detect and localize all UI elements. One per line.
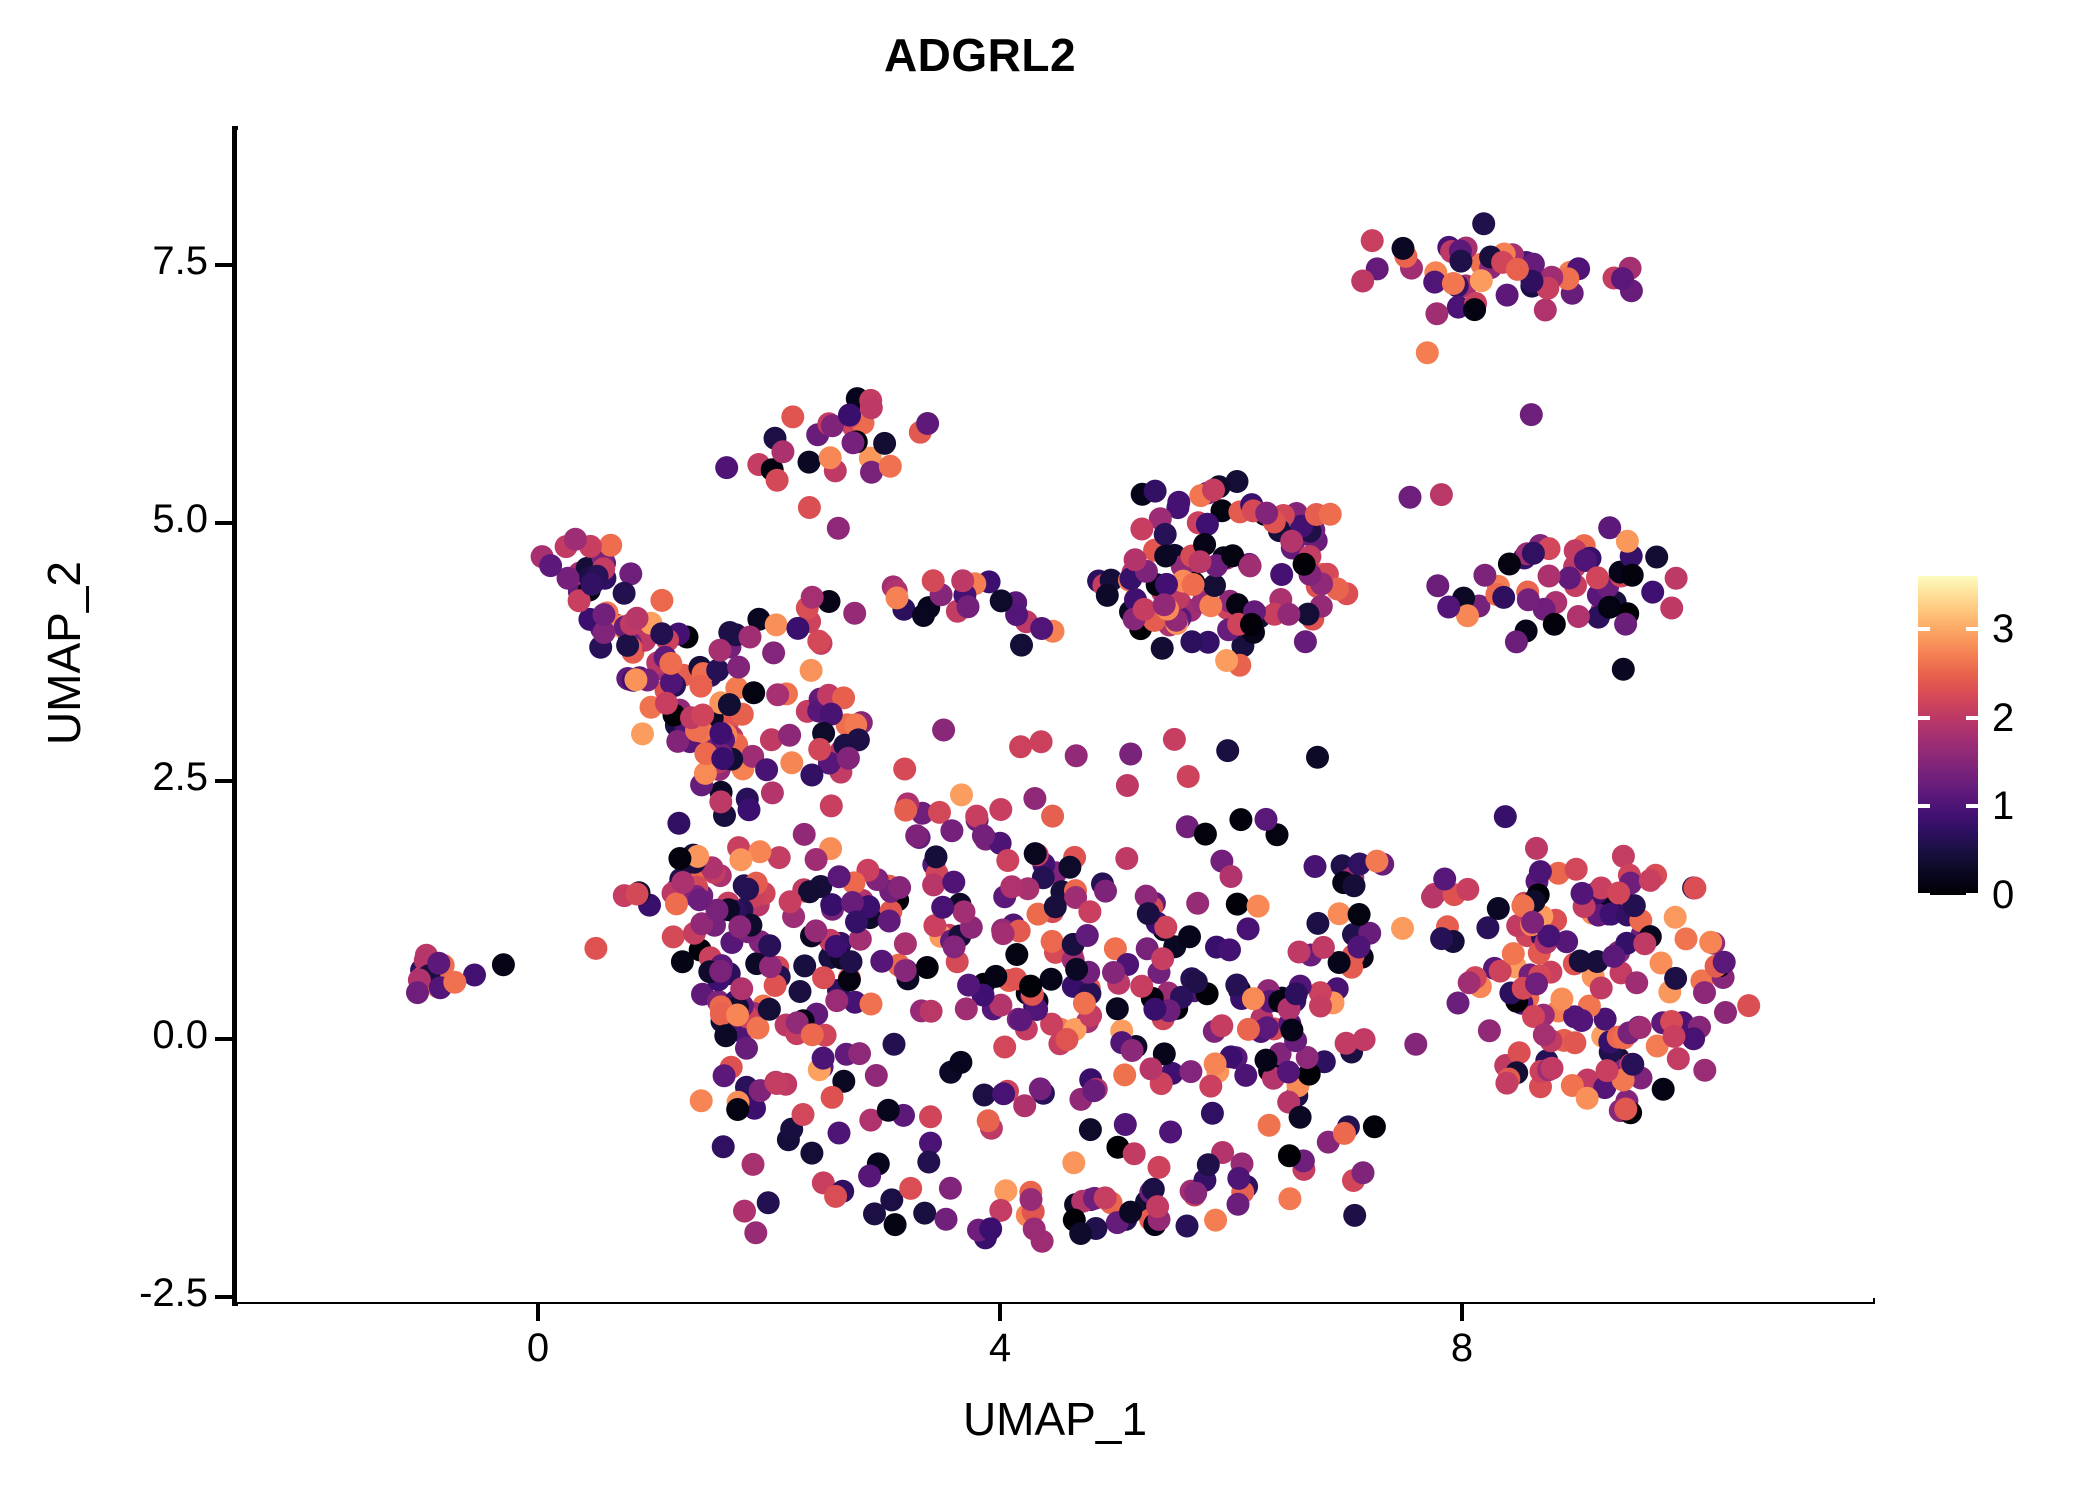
scatter-point bbox=[893, 758, 916, 781]
scatter-point bbox=[1280, 530, 1303, 553]
x-tick-label: 0 bbox=[478, 1326, 598, 1371]
scatter-point bbox=[706, 659, 729, 682]
scatter-point bbox=[805, 848, 828, 871]
scatter-point bbox=[1115, 847, 1138, 870]
scatter-point bbox=[1073, 992, 1096, 1015]
scatter-point bbox=[873, 432, 896, 455]
scatter-point bbox=[800, 1142, 823, 1165]
scatter-point bbox=[1009, 1008, 1032, 1031]
scatter-point bbox=[1210, 1014, 1233, 1037]
scatter-point bbox=[738, 798, 761, 821]
scatter-point bbox=[837, 747, 860, 770]
scatter-point bbox=[1289, 1106, 1312, 1129]
scatter-point bbox=[1335, 1032, 1358, 1055]
scatter-point bbox=[766, 469, 789, 492]
scatter-point bbox=[1076, 924, 1099, 947]
scatter-point bbox=[883, 1033, 906, 1056]
scatter-point bbox=[714, 1024, 737, 1047]
scatter-point bbox=[1425, 302, 1448, 325]
scatter-point bbox=[1024, 842, 1047, 865]
scatter-point bbox=[922, 873, 945, 896]
scatter-point bbox=[584, 937, 607, 960]
scatter-point bbox=[913, 1202, 936, 1225]
scatter-point bbox=[744, 1221, 767, 1244]
scatter-point bbox=[1220, 865, 1243, 888]
scatter-point bbox=[1645, 546, 1668, 569]
scatter-point bbox=[742, 1153, 765, 1176]
scatter-point bbox=[1065, 744, 1088, 767]
scatter-point bbox=[662, 925, 685, 948]
scatter-point bbox=[712, 1135, 735, 1158]
colorbar-tick-mark bbox=[1918, 804, 1930, 808]
scatter-point bbox=[912, 604, 935, 627]
scatter-point bbox=[1143, 998, 1166, 1021]
scatter-point bbox=[1525, 837, 1548, 860]
scatter-point bbox=[840, 950, 863, 973]
scatter-point bbox=[972, 824, 995, 847]
scatter-point bbox=[865, 1064, 888, 1087]
scatter-point bbox=[1013, 1094, 1036, 1117]
scatter-point bbox=[798, 451, 821, 474]
colorbar-tick-mark bbox=[1918, 716, 1930, 720]
scatter-point bbox=[878, 910, 901, 933]
scatter-point bbox=[1586, 566, 1609, 589]
scatter-point bbox=[1030, 730, 1053, 753]
scatter-point bbox=[726, 1098, 749, 1121]
scatter-point bbox=[709, 960, 732, 983]
scatter-point bbox=[626, 883, 649, 906]
scatter-point bbox=[870, 950, 893, 973]
scatter-point bbox=[1154, 545, 1177, 568]
scatter-point bbox=[1641, 581, 1664, 604]
scatter-point bbox=[1667, 1047, 1690, 1070]
scatter-point bbox=[1506, 258, 1529, 281]
scatter-point bbox=[1201, 1102, 1224, 1125]
scatter-point bbox=[838, 404, 861, 427]
scatter-point bbox=[1534, 299, 1557, 322]
scatter-point bbox=[804, 919, 827, 942]
scatter-point bbox=[709, 790, 732, 813]
scatter-point bbox=[1116, 774, 1139, 797]
scatter-point bbox=[1487, 897, 1510, 920]
scatter-point bbox=[671, 871, 694, 894]
scatter-point bbox=[1096, 584, 1119, 607]
scatter-point bbox=[789, 980, 812, 1003]
scatter-point bbox=[1185, 970, 1208, 993]
scatter-point bbox=[922, 569, 945, 592]
scatter-point bbox=[1180, 630, 1203, 653]
scatter-point bbox=[1197, 1153, 1220, 1176]
scatter-point bbox=[942, 871, 965, 894]
scatter-point bbox=[920, 1000, 943, 1023]
scatter-point bbox=[950, 783, 973, 806]
scatter-point bbox=[1029, 1077, 1052, 1100]
scatter-point bbox=[943, 935, 966, 958]
scatter-point bbox=[1607, 882, 1630, 905]
scatter-point bbox=[879, 455, 902, 478]
scatter-point bbox=[931, 896, 954, 919]
scatter-point bbox=[992, 1082, 1015, 1105]
scatter-point bbox=[730, 977, 753, 1000]
scatter-point bbox=[1652, 1078, 1675, 1101]
scatter-point bbox=[1277, 603, 1300, 626]
y-tick-label: 2.5 bbox=[0, 755, 208, 800]
scatter-point bbox=[1167, 491, 1190, 514]
scatter-point bbox=[1151, 947, 1174, 970]
scatter-point bbox=[443, 971, 466, 994]
scatter-point bbox=[689, 675, 712, 698]
scatter-point bbox=[1058, 856, 1081, 879]
scatter-point bbox=[688, 888, 711, 911]
scatter-point bbox=[671, 950, 694, 973]
scatter-point bbox=[1010, 634, 1033, 657]
scatter-point bbox=[1319, 503, 1342, 526]
scatter-point bbox=[1664, 967, 1687, 990]
scatter-point bbox=[1176, 1215, 1199, 1238]
scatter-point bbox=[843, 602, 866, 625]
scatter-point bbox=[1343, 1204, 1366, 1227]
scatter-point bbox=[1094, 1186, 1117, 1209]
scatter-point bbox=[1041, 805, 1064, 828]
scatter-point bbox=[765, 1072, 788, 1095]
scatter-point bbox=[1629, 1016, 1652, 1039]
scatter-point bbox=[1234, 1064, 1257, 1087]
scatter-point bbox=[894, 932, 917, 955]
scatter-point bbox=[1598, 596, 1621, 619]
scatter-point bbox=[427, 952, 450, 975]
scatter-point bbox=[616, 634, 639, 657]
scatter-point bbox=[1496, 284, 1519, 307]
scatter-point bbox=[1569, 950, 1592, 973]
scatter-point bbox=[755, 758, 778, 781]
scatter-point bbox=[778, 724, 801, 747]
scatter-point bbox=[758, 934, 781, 957]
scatter-point bbox=[780, 751, 803, 774]
scatter-point bbox=[655, 692, 678, 715]
scatter-point bbox=[1163, 728, 1186, 751]
scatter-point bbox=[1094, 880, 1117, 903]
scatter-point bbox=[1153, 593, 1176, 616]
scatter-point bbox=[1494, 805, 1517, 828]
y-axis-label: UMAP_2 bbox=[37, 393, 91, 913]
scatter-point bbox=[1044, 895, 1067, 918]
scatter-point bbox=[965, 805, 988, 828]
scatter-point bbox=[1404, 1033, 1427, 1056]
scatter-point bbox=[1277, 1061, 1300, 1084]
scatter-point bbox=[728, 915, 751, 938]
scatter-point bbox=[1146, 1195, 1169, 1218]
scatter-point bbox=[1449, 250, 1472, 273]
scatter-point bbox=[1538, 565, 1561, 588]
scatter-point bbox=[1204, 1052, 1227, 1075]
scatter-point bbox=[736, 878, 759, 901]
scatter-point bbox=[1737, 994, 1760, 1017]
scatter-point bbox=[771, 440, 794, 463]
scatter-point bbox=[1665, 567, 1688, 590]
scatter-point bbox=[1078, 900, 1101, 923]
scatter-point bbox=[1133, 598, 1156, 621]
page-title: ADGRL2 bbox=[0, 28, 1960, 82]
scatter-point bbox=[801, 1023, 824, 1046]
scatter-point bbox=[1194, 823, 1217, 846]
plot-panel bbox=[237, 130, 1873, 1302]
scatter-point bbox=[1517, 588, 1540, 611]
scatter-point bbox=[932, 719, 955, 742]
scatter-point bbox=[1137, 902, 1160, 925]
scatter-point bbox=[842, 431, 865, 454]
scatter-point bbox=[863, 1202, 886, 1225]
scatter-point bbox=[1182, 573, 1205, 596]
scatter-point bbox=[1614, 1098, 1637, 1121]
scatter-point bbox=[1114, 1113, 1137, 1136]
scatter-point bbox=[1227, 1193, 1250, 1216]
scatter-point bbox=[1148, 1156, 1171, 1179]
scatter-point bbox=[894, 799, 917, 822]
scatter-point bbox=[877, 1099, 900, 1122]
y-tick-label: 5.0 bbox=[0, 497, 208, 542]
scatter-point bbox=[727, 656, 750, 679]
scatter-point bbox=[492, 953, 515, 976]
scatter-point bbox=[1151, 637, 1174, 660]
colorbar-tick-label: 1 bbox=[1992, 786, 2014, 826]
scatter-point bbox=[1713, 951, 1736, 974]
scatter-point bbox=[1306, 912, 1329, 935]
scatter-point bbox=[1227, 1167, 1250, 1190]
scatter-point bbox=[1255, 1049, 1278, 1072]
scatter-point bbox=[1664, 906, 1687, 929]
scatter-point bbox=[1288, 941, 1311, 964]
scatter-point bbox=[1447, 992, 1470, 1015]
scatter-point bbox=[1247, 895, 1270, 918]
scatter-point bbox=[758, 998, 781, 1021]
scatter-point bbox=[993, 1036, 1016, 1059]
scatter-points-layer bbox=[237, 130, 1873, 1302]
x-axis-label: UMAP_1 bbox=[237, 1392, 1873, 1446]
scatter-point bbox=[709, 639, 732, 662]
scatter-point bbox=[1270, 563, 1293, 586]
scatter-point bbox=[1558, 567, 1581, 590]
scatter-point bbox=[1541, 1057, 1564, 1080]
scatter-point bbox=[1065, 958, 1088, 981]
scatter-point bbox=[1625, 971, 1648, 994]
scatter-point bbox=[1229, 808, 1252, 831]
scatter-point bbox=[713, 1064, 736, 1087]
scatter-point bbox=[1144, 480, 1167, 503]
scatter-point bbox=[858, 1165, 881, 1188]
scatter-point bbox=[820, 794, 843, 817]
scatter-point bbox=[1683, 877, 1706, 900]
scatter-point bbox=[1391, 917, 1414, 940]
x-tick-mark bbox=[998, 1304, 1002, 1321]
y-tick-mark bbox=[215, 521, 232, 525]
scatter-point bbox=[1426, 574, 1449, 597]
scatter-point bbox=[1502, 942, 1525, 965]
scatter-point bbox=[593, 603, 616, 626]
scatter-point bbox=[1682, 1027, 1705, 1050]
scatter-point bbox=[1458, 971, 1481, 994]
scatter-point bbox=[1663, 1025, 1686, 1048]
x-tick-label: 8 bbox=[1402, 1326, 1522, 1371]
scatter-point bbox=[1392, 237, 1415, 260]
scatter-point bbox=[1602, 945, 1625, 968]
scatter-point bbox=[1633, 932, 1656, 955]
scatter-point bbox=[1442, 272, 1465, 295]
scatter-point bbox=[949, 1051, 972, 1074]
scatter-point bbox=[793, 823, 816, 846]
scatter-point bbox=[1304, 855, 1327, 878]
scatter-point bbox=[759, 955, 782, 978]
scatter-point bbox=[1621, 564, 1644, 587]
scatter-point bbox=[1616, 530, 1639, 553]
scatter-point bbox=[1567, 605, 1590, 628]
scatter-point bbox=[888, 876, 911, 899]
colorbar-tick-label: 2 bbox=[1992, 698, 2014, 738]
y-tick-mark bbox=[215, 263, 232, 267]
scatter-point bbox=[709, 722, 732, 745]
scatter-point bbox=[1106, 997, 1129, 1020]
scatter-point bbox=[1520, 403, 1543, 426]
scatter-point bbox=[812, 966, 835, 989]
scatter-point bbox=[940, 819, 963, 842]
scatter-point bbox=[935, 1208, 958, 1231]
scatter-point bbox=[808, 738, 831, 761]
scatter-point bbox=[1202, 479, 1225, 502]
y-tick-mark bbox=[215, 779, 232, 783]
scatter-point bbox=[580, 573, 603, 596]
scatter-point bbox=[996, 849, 1019, 872]
scatter-point bbox=[828, 865, 851, 888]
scatter-point bbox=[1639, 869, 1662, 892]
scatter-point bbox=[807, 630, 830, 653]
scatter-point bbox=[718, 693, 741, 716]
scatter-point bbox=[1529, 860, 1552, 883]
scatter-point bbox=[1189, 550, 1212, 573]
scatter-point bbox=[1216, 739, 1239, 762]
scatter-point bbox=[1009, 735, 1032, 758]
scatter-point bbox=[1333, 1122, 1356, 1145]
scatter-point bbox=[1237, 917, 1260, 940]
scatter-point bbox=[1069, 1222, 1092, 1245]
scatter-point bbox=[1522, 542, 1545, 565]
scatter-point bbox=[1113, 1063, 1136, 1086]
scatter-point bbox=[977, 1109, 1000, 1132]
scatter-point bbox=[1352, 1161, 1375, 1184]
scatter-point bbox=[825, 989, 848, 1012]
color-legend[interactable]: 3210 bbox=[1918, 576, 1978, 895]
scatter-point bbox=[800, 764, 823, 787]
scatter-point bbox=[1328, 902, 1351, 925]
scatter-point bbox=[1119, 1201, 1142, 1224]
colorbar-tick-mark bbox=[1966, 804, 1978, 808]
colorbar-tick-mark bbox=[1918, 627, 1930, 631]
scatter-point bbox=[1714, 1001, 1737, 1024]
scatter-point bbox=[1543, 613, 1566, 636]
scatter-point bbox=[827, 517, 850, 540]
scatter-point bbox=[1343, 874, 1366, 897]
scatter-point bbox=[1693, 1059, 1716, 1082]
scatter-point bbox=[955, 997, 978, 1020]
scatter-point bbox=[1102, 961, 1125, 984]
scatter-point bbox=[1430, 927, 1453, 950]
scatter-point bbox=[860, 993, 883, 1016]
scatter-point bbox=[1179, 1060, 1202, 1083]
scatter-point bbox=[1140, 1057, 1163, 1080]
scatter-point bbox=[1508, 1041, 1531, 1064]
scatter-point bbox=[1196, 513, 1219, 536]
scatter-point bbox=[1005, 943, 1028, 966]
scatter-point bbox=[1495, 1072, 1518, 1095]
scatter-point bbox=[992, 922, 1015, 945]
scatter-point bbox=[793, 954, 816, 977]
scatter-point bbox=[951, 569, 974, 592]
scatter-point bbox=[1082, 1079, 1105, 1102]
scatter-point bbox=[848, 1042, 871, 1065]
scatter-point bbox=[539, 554, 562, 577]
scatter-point bbox=[779, 890, 802, 913]
scatter-point bbox=[1184, 1182, 1207, 1205]
scatter-point bbox=[984, 965, 1007, 988]
scatter-point bbox=[1154, 523, 1177, 546]
scatter-point bbox=[1293, 553, 1316, 576]
scatter-point bbox=[1186, 892, 1209, 915]
scatter-point bbox=[860, 396, 883, 419]
scatter-point bbox=[919, 1105, 942, 1128]
scatter-point bbox=[1478, 1019, 1501, 1042]
scatter-point bbox=[1124, 548, 1147, 571]
scatter-point bbox=[1533, 1023, 1556, 1046]
scatter-point bbox=[1294, 630, 1317, 653]
scatter-point bbox=[1563, 1031, 1586, 1054]
scatter-point bbox=[463, 964, 486, 987]
scatter-point bbox=[1130, 518, 1153, 541]
y-tick-label: 0.0 bbox=[0, 1013, 208, 1058]
scatter-point bbox=[1306, 746, 1329, 769]
scatter-point bbox=[819, 446, 842, 469]
scatter-point bbox=[957, 595, 980, 618]
scatter-point bbox=[1020, 1188, 1043, 1211]
scatter-point bbox=[735, 1037, 758, 1060]
scatter-point bbox=[973, 1084, 996, 1107]
scatter-point bbox=[757, 1191, 780, 1214]
colorbar-tick-mark bbox=[1918, 893, 1930, 897]
y-tick-mark bbox=[215, 1037, 232, 1041]
scatter-point bbox=[1123, 1142, 1146, 1165]
scatter-point bbox=[925, 845, 948, 868]
scatter-point bbox=[1505, 630, 1528, 653]
scatter-point bbox=[957, 974, 980, 997]
scatter-point bbox=[1280, 1019, 1303, 1042]
scatter-point bbox=[1023, 1218, 1046, 1241]
scatter-point bbox=[1675, 927, 1698, 950]
scatter-point bbox=[841, 891, 864, 914]
colorbar-tick-label: 0 bbox=[1992, 875, 2014, 915]
scatter-point bbox=[711, 747, 734, 770]
scatter-point bbox=[1178, 925, 1201, 948]
scatter-point bbox=[899, 1177, 922, 1200]
scatter-point bbox=[905, 824, 928, 847]
scatter-point bbox=[1040, 968, 1063, 991]
scatter-point bbox=[624, 668, 647, 691]
scatter-point bbox=[989, 798, 1012, 821]
scatter-point bbox=[1177, 765, 1200, 788]
scatter-point bbox=[1312, 936, 1335, 959]
scatter-point bbox=[1399, 486, 1422, 509]
scatter-point bbox=[1596, 1059, 1619, 1082]
y-tick-mark bbox=[215, 1295, 232, 1299]
colorbar-tick-mark bbox=[1966, 716, 1978, 720]
scatter-point bbox=[1239, 554, 1262, 577]
scatter-point bbox=[1215, 649, 1238, 672]
